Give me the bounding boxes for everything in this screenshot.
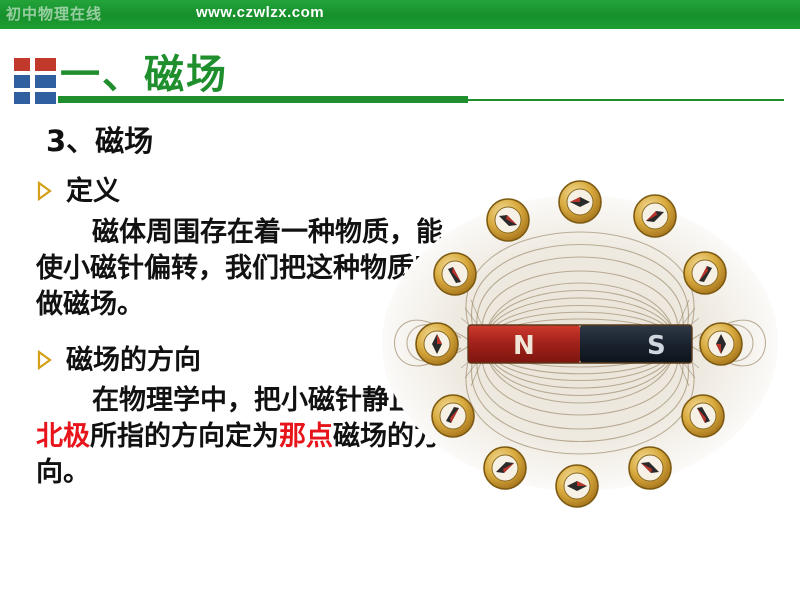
compass-needle	[634, 195, 676, 237]
compass-needle	[559, 181, 601, 223]
compass-needle	[700, 323, 742, 365]
site-logo: 初中物理在线	[6, 2, 176, 27]
title-underline-thick	[58, 96, 468, 103]
bar-magnet: N S	[468, 325, 692, 363]
arrow-bullet-icon	[36, 178, 56, 204]
direction-paragraph-part-1: 在物理学中，把小磁针	[92, 385, 362, 416]
compass-needle	[434, 253, 476, 295]
section-heading: 3、磁场	[46, 118, 153, 160]
magnetic-field-illustration: N S	[365, 168, 795, 528]
bullet-item-direction: 磁场的方向	[36, 347, 201, 375]
bullet-label-direction: 磁场的方向	[66, 347, 201, 375]
title-underline-thin	[468, 99, 784, 101]
compass-needle	[682, 395, 724, 437]
site-banner: 初中物理在线 www.czwlzx.com	[0, 0, 800, 29]
compass-needle	[684, 252, 726, 294]
compass-needle	[484, 447, 526, 489]
direction-paragraph-highlight-that-point: 那点	[279, 421, 333, 452]
title-decoration-icon	[14, 58, 56, 104]
arrow-bullet-icon	[36, 347, 56, 373]
site-url-text: www.czwlzx.com	[196, 4, 324, 21]
magnet-south-half	[580, 325, 692, 363]
page-title: 一、磁场	[60, 42, 228, 100]
compass-needle	[432, 395, 474, 437]
compass-needle	[556, 465, 598, 507]
direction-paragraph-part-4: 所指的方向定为	[90, 421, 279, 452]
magnet-north-label: N	[513, 331, 535, 361]
magnet-south-label: S	[647, 331, 666, 361]
bullet-label-definition: 定义	[66, 178, 120, 206]
compass-needle	[629, 447, 671, 489]
direction-paragraph-highlight-north-pole: 北极	[36, 421, 90, 452]
compass-needle	[416, 323, 458, 365]
bullet-item-definition: 定义	[36, 178, 120, 206]
compass-needle	[487, 199, 529, 241]
magnetic-field-figure: N S	[365, 168, 795, 528]
